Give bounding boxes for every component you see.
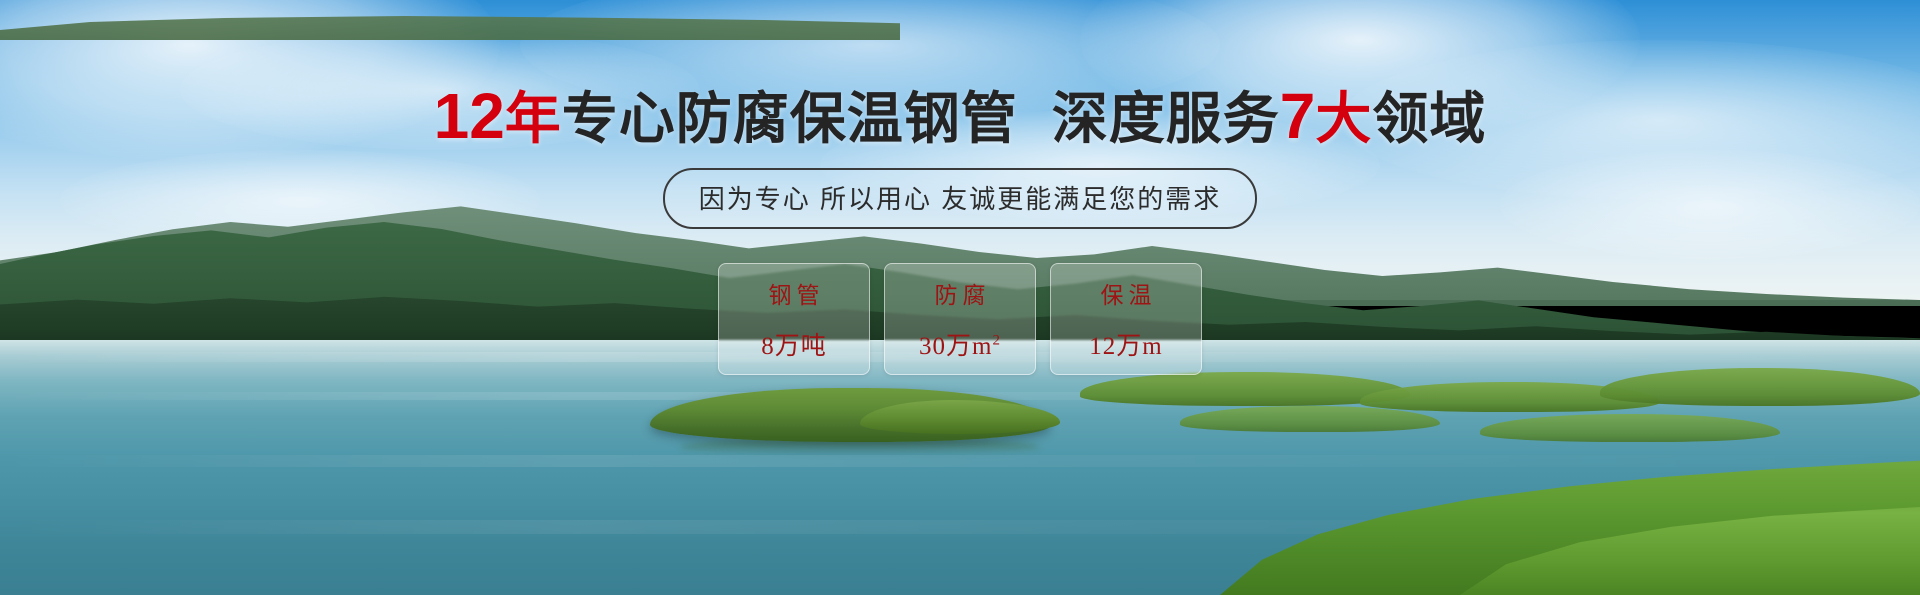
stat-card-value-superscript: 2 <box>992 333 1001 349</box>
banner-content: 12年专心防腐保温钢管深度服务7大领域 因为专心 所以用心 友诚更能满足您的需求… <box>0 0 1920 595</box>
headline-years-unit: 年 <box>505 87 562 150</box>
stat-card-label: 钢管 <box>764 276 825 310</box>
banner-headline: 12年专心防腐保温钢管深度服务7大领域 <box>0 84 1920 148</box>
headline-main-text: 专心防腐保温钢管 <box>562 87 1018 150</box>
stat-card-steel-pipe[interactable]: 钢管 8万吨 <box>718 263 870 375</box>
stat-card-list: 钢管 8万吨 防腐 30万m2 保温 12万m <box>0 263 1920 375</box>
headline-fields-number: 7 <box>1280 80 1316 152</box>
banner-subtitle-wrapper: 因为专心 所以用心 友诚更能满足您的需求 <box>0 168 1920 229</box>
stat-card-anticorrosion[interactable]: 防腐 30万m2 <box>884 263 1036 375</box>
stat-card-value-base: 30万m <box>919 333 992 360</box>
stat-card-insulation[interactable]: 保温 12万m <box>1050 263 1202 375</box>
stat-card-label: 保温 <box>1096 276 1157 310</box>
banner-subtitle-pill: 因为专心 所以用心 友诚更能满足您的需求 <box>663 168 1257 229</box>
headline-service-text: 深度服务 <box>1052 87 1280 150</box>
stat-card-value: 8万吨 <box>761 326 827 362</box>
stat-card-value: 12万m <box>1089 326 1162 362</box>
hero-banner: 12年专心防腐保温钢管深度服务7大领域 因为专心 所以用心 友诚更能满足您的需求… <box>0 0 1920 595</box>
headline-fields-text: 领域 <box>1372 87 1486 150</box>
headline-fields-unit: 大 <box>1315 87 1372 150</box>
headline-years-number: 12 <box>434 80 505 152</box>
stat-card-value-base: 12万m <box>1089 333 1162 360</box>
stat-card-value-base: 8万吨 <box>761 333 827 360</box>
stat-card-value: 30万m2 <box>919 326 1001 362</box>
stat-card-label: 防腐 <box>930 276 991 310</box>
